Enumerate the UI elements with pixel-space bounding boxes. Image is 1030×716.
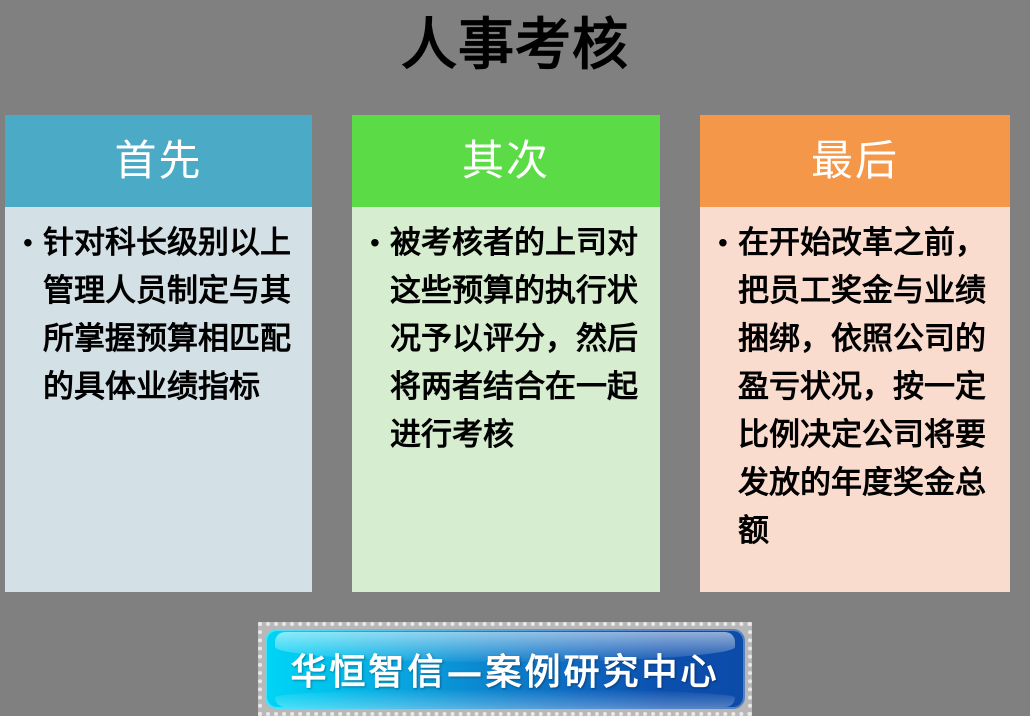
page-title: 人事考核 (0, 12, 1030, 78)
bullet-item: • 被考核者的上司对这些预算的执行状况予以评分，然后将两者结合在一起进行考核 (366, 219, 652, 459)
footer-banner-button[interactable]: 华恒智信—案例研究中心 (265, 629, 745, 709)
column-body-second: • 被考核者的上司对这些预算的执行状况予以评分，然后将两者结合在一起进行考核 (352, 207, 660, 592)
bullet-dot-icon: • (366, 219, 390, 267)
bullet-item: • 在开始改革之前，把员工奖金与业绩捆绑，依照公司的盈亏状况，按一定比例决定公司… (714, 219, 1002, 555)
column-header-second: 其次 (352, 115, 660, 207)
bullet-text-first: 针对科长级别以上管理人员制定与其所掌握预算相匹配的具体业绩指标 (43, 219, 304, 411)
column-body-first: • 针对科长级别以上管理人员制定与其所掌握预算相匹配的具体业绩指标 (5, 207, 312, 592)
bullet-dot-icon: • (714, 219, 738, 267)
bullet-text-third: 在开始改革之前，把员工奖金与业绩捆绑，依照公司的盈亏状况，按一定比例决定公司将要… (738, 219, 1002, 555)
banner-selection-frame[interactable]: 华恒智信—案例研究中心 (258, 622, 752, 716)
column-body-third: • 在开始改革之前，把员工奖金与业绩捆绑，依照公司的盈亏状况，按一定比例决定公司… (700, 207, 1010, 592)
bullet-dot-icon: • (19, 219, 43, 267)
column-header-first: 首先 (5, 115, 312, 207)
column-card-first[interactable]: 首先 • 针对科长级别以上管理人员制定与其所掌握预算相匹配的具体业绩指标 (5, 115, 312, 592)
slide-canvas: 人事考核 首先 • 针对科长级别以上管理人员制定与其所掌握预算相匹配的具体业绩指… (0, 0, 1030, 712)
column-header-third: 最后 (700, 115, 1010, 207)
column-card-third[interactable]: 最后 • 在开始改革之前，把员工奖金与业绩捆绑，依照公司的盈亏状况，按一定比例决… (700, 115, 1010, 592)
footer-banner-label: 华恒智信—案例研究中心 (290, 643, 719, 695)
bullet-item: • 针对科长级别以上管理人员制定与其所掌握预算相匹配的具体业绩指标 (19, 219, 304, 411)
column-card-second[interactable]: 其次 • 被考核者的上司对这些预算的执行状况予以评分，然后将两者结合在一起进行考… (352, 115, 660, 592)
bullet-text-second: 被考核者的上司对这些预算的执行状况予以评分，然后将两者结合在一起进行考核 (390, 219, 652, 459)
